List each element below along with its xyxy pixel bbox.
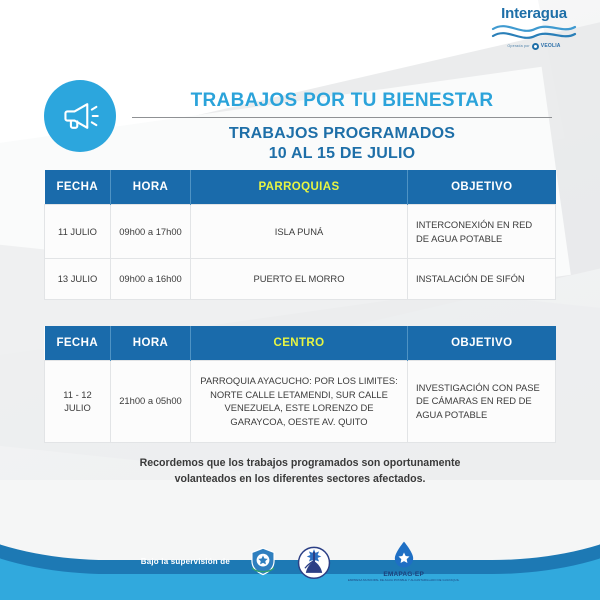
cell-objetivo: INVESTIGACIÓN CON PASE DE CÁMARAS EN RED… [408,361,556,443]
cell-fecha: 11 - 12 JULIO [45,361,111,443]
headline-block: TRABAJOS POR TU BIENESTAR TRABAJOS PROGR… [132,90,552,164]
table-row: 13 JULIO 09h00 a 16h00 PUERTO EL MORRO I… [45,259,556,300]
column-header-fecha: FECHA [45,326,111,361]
column-header-objetivo: OBJETIVO [408,170,556,205]
title-divider [132,117,552,119]
table-header-row: FECHA HORA CENTRO OBJETIVO [45,326,556,361]
municipio-logo [246,544,280,578]
brand-logo: Interagua Operada por VEOLIA [482,6,586,50]
guayaquil-seal-logo [294,541,334,581]
column-header-hora: HORA [111,170,191,205]
water-waves-icon [491,22,577,42]
cell-hora: 21h00 a 05h00 [111,361,191,443]
column-header-fecha: FECHA [45,170,111,205]
brand-operator-name: VEOLIA [541,44,561,49]
cell-hora: 09h00 a 16h00 [111,259,191,300]
column-header-centro: CENTRO [191,326,408,361]
cell-parroquia: ISLA PUNÁ [191,205,408,259]
schedule-table-centro: FECHA HORA CENTRO OBJETIVO 11 - 12 JULIO… [44,326,556,443]
emapag-caption-sub: EMPRESA MUNICIPAL DE AGUA POTABLE Y ALCA… [348,578,459,582]
water-drop-star-icon [391,540,417,570]
supervision-row: Bajo la supervisión de [0,530,600,592]
cell-objetivo: INSTALACIÓN DE SIFÓN [408,259,556,300]
brand-name: Interagua [482,6,586,21]
reminder-note-line2: volanteados en los diferentes sectores a… [70,471,530,487]
reminder-note-line1: Recordemos que los trabajos programados … [70,455,530,471]
cell-hora: 09h00 a 17h00 [111,205,191,259]
table-row: 11 - 12 JULIO 21h00 a 05h00 PARROQUIA AY… [45,361,556,443]
guayaquil-city-seal-icon [294,541,334,581]
reminder-note: Recordemos que los trabajos programados … [70,455,530,488]
veolia-mark-icon [532,43,539,50]
emapag-caption: EMAPAG-EP [383,571,424,578]
page-title: TRABAJOS POR TU BIENESTAR [132,90,552,112]
brand-operated-by-label: Operada por [507,45,529,49]
cell-parroquia: PUERTO EL MORRO [191,259,408,300]
supervision-label: Bajo la supervisión de [141,557,230,566]
megaphone-icon [60,96,100,136]
page-subtitle-dates: 10 AL 15 DE JULIO [132,144,552,164]
schedule-table-parroquias: FECHA HORA PARROQUIAS OBJETIVO 11 JULIO … [44,170,556,300]
page-subtitle-works: TRABAJOS PROGRAMADOS [132,124,552,144]
column-header-parroquias: PARROQUIAS [191,170,408,205]
table-row: 11 JULIO 09h00 a 17h00 ISLA PUNÁ INTERCO… [45,205,556,259]
column-header-objetivo: OBJETIVO [408,326,556,361]
emapag-logo: EMAPAG-EP EMPRESA MUNICIPAL DE AGUA POTA… [348,540,459,582]
cell-fecha: 11 JULIO [45,205,111,259]
cell-fecha: 13 JULIO [45,259,111,300]
brand-operator: Operada por VEOLIA [482,43,586,50]
megaphone-badge [44,80,116,152]
column-header-hora: HORA [111,326,191,361]
municipio-shield-star-icon [246,544,280,578]
cell-centro: PARROQUIA AYACUCHO: POR LOS LIMITES: NOR… [191,361,408,443]
poster-canvas: Interagua Operada por VEOLIA TRABAJOS PO… [0,0,600,600]
cell-objetivo: INTERCONEXIÓN EN RED DE AGUA POTABLE [408,205,556,259]
table-header-row: FECHA HORA PARROQUIAS OBJETIVO [45,170,556,205]
